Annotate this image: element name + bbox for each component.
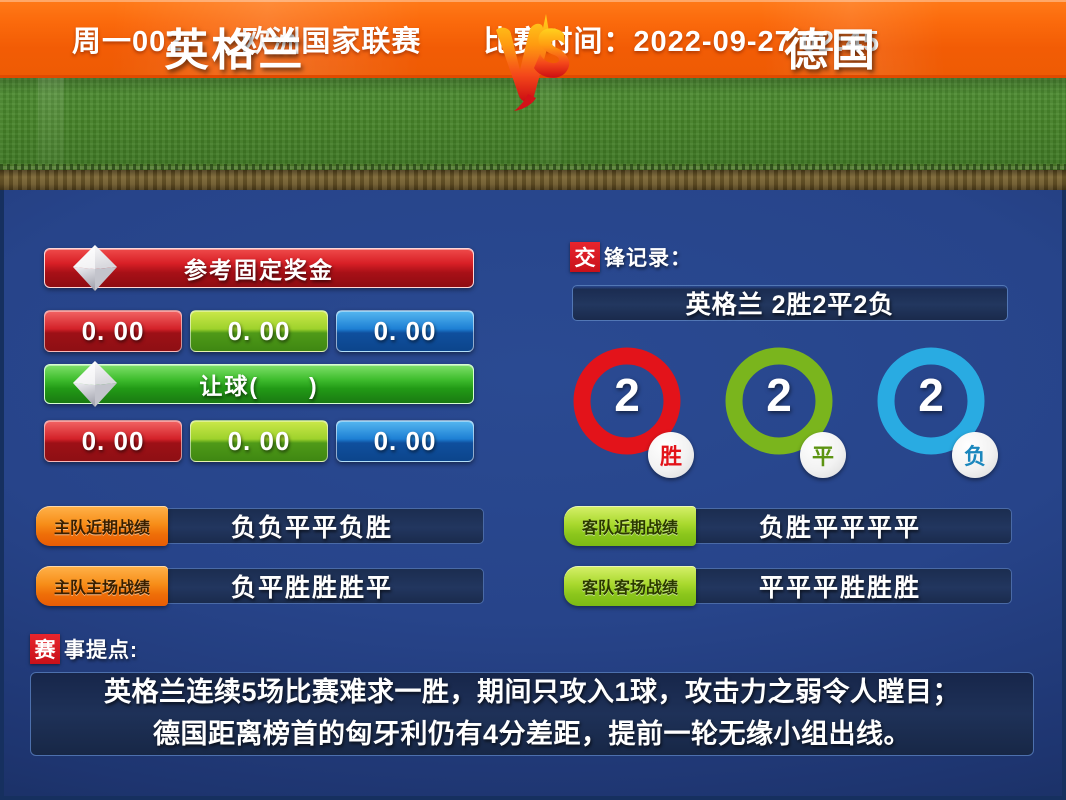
match-notes-line-2: 德国距离榜首的匈牙利仍有4分差距，提前一轮无缘小组出线。 xyxy=(153,714,911,756)
notes-section-label: 赛 事提点: xyxy=(30,634,138,664)
h2h-section-label: 交 锋记录： xyxy=(570,242,692,272)
away-recent-form-tab: 客队近期战绩 xyxy=(564,506,696,546)
fixed-prize-home-odds[interactable]: 0. 00 xyxy=(44,310,182,352)
handicap-away-odds[interactable]: 0. 00 xyxy=(336,420,474,462)
h2h-ring-draw: 2 平 xyxy=(718,340,840,480)
h2h-rings: 2 胜 2 平 2 负 xyxy=(566,340,1016,485)
fixed-prize-header: 参考固定奖金 xyxy=(44,248,474,288)
vs-flame-icon xyxy=(484,8,584,112)
notes-label-text: 事提点: xyxy=(64,634,138,664)
home-home-form-row: 负平胜胜胜平 主队主场战绩 xyxy=(36,566,484,606)
handicap-home-odds[interactable]: 0. 00 xyxy=(44,420,182,462)
home-home-form-tab: 主队主场战绩 xyxy=(36,566,168,606)
diamond-gem-icon xyxy=(67,239,123,297)
home-recent-form-tab: 主队近期战绩 xyxy=(36,506,168,546)
h2h-win-count: 2 xyxy=(566,368,688,422)
h2h-draw-badge: 平 xyxy=(800,432,846,478)
home-home-form-value: 负平胜胜胜平 xyxy=(140,568,484,604)
home-recent-form-value: 负负平平负胜 xyxy=(140,508,484,544)
h2h-draw-count: 2 xyxy=(718,368,840,422)
match-notes-line-1: 英格兰连续5场比赛难求一胜，期间只攻入1球，攻击力之弱令人瞠目； xyxy=(104,672,960,714)
away-recent-form-row: 负胜平平平平 客队近期战绩 xyxy=(564,506,1012,546)
away-away-form-row: 平平平胜胜胜 客队客场战绩 xyxy=(564,566,1012,606)
handicap-header: 让球( ) xyxy=(44,364,474,404)
pitch-dirt-strip xyxy=(0,170,1066,190)
h2h-loss-count: 2 xyxy=(870,368,992,422)
match-preview-graphic: 周一002 欧洲国家联赛 比赛时间：2022-09-27 02:45 英格兰 德… xyxy=(0,0,1066,800)
home-team-name: 英格兰 xyxy=(0,18,470,84)
h2h-label-text: 锋记录： xyxy=(604,242,692,272)
match-notes: 英格兰连续5场比赛难求一胜，期间只攻入1球，攻击力之弱令人瞠目； 德国距离榜首的… xyxy=(30,672,1034,756)
fixed-prize-title: 参考固定奖金 xyxy=(184,251,334,285)
h2h-ring-loss: 2 负 xyxy=(870,340,992,480)
h2h-ring-win: 2 胜 xyxy=(566,340,688,480)
away-away-form-tab: 客队客场战绩 xyxy=(564,566,696,606)
away-recent-form-value: 负胜平平平平 xyxy=(668,508,1012,544)
h2h-loss-badge: 负 xyxy=(952,432,998,478)
h2h-label-chip: 交 xyxy=(570,242,600,272)
away-team-name: 德国 xyxy=(596,18,1066,84)
fixed-prize-away-odds[interactable]: 0. 00 xyxy=(336,310,474,352)
notes-label-chip: 赛 xyxy=(30,634,60,664)
home-recent-form-row: 负负平平负胜 主队近期战绩 xyxy=(36,506,484,546)
h2h-summary: 英格兰 2胜2平2负 xyxy=(572,285,1008,321)
h2h-win-badge: 胜 xyxy=(648,432,694,478)
pitch-stripe xyxy=(38,78,64,172)
diamond-gem-icon xyxy=(67,355,123,413)
handicap-draw-odds[interactable]: 0. 00 xyxy=(190,420,328,462)
fixed-prize-draw-odds[interactable]: 0. 00 xyxy=(190,310,328,352)
handicap-title: 让球( ) xyxy=(199,367,318,401)
away-away-form-value: 平平平胜胜胜 xyxy=(668,568,1012,604)
